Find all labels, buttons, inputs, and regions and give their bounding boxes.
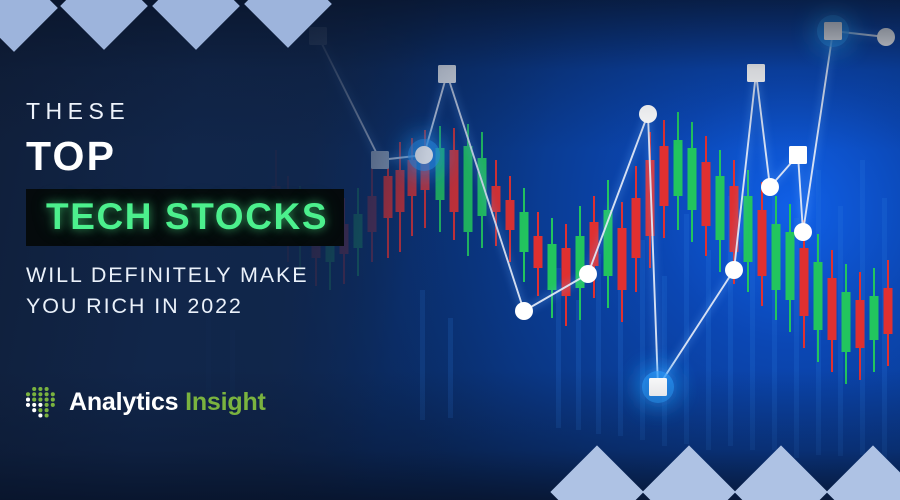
logo-dot — [45, 408, 49, 412]
logo-dot — [45, 392, 49, 396]
logo-dot — [45, 387, 49, 391]
logo-dot — [26, 398, 30, 402]
poster-canvas: THESE TOP TECH STOCKS WILL DEFINITELY MA… — [0, 0, 900, 500]
analytics-insight-dot-matrix-icon — [24, 385, 58, 419]
headline-word-top: TOP — [26, 136, 446, 177]
logo-dot — [38, 392, 42, 396]
logo-dot — [45, 413, 49, 417]
headline-highlight-text: TECH STOCKS — [46, 198, 328, 235]
logo-dot — [32, 387, 36, 391]
brand-name-secondary: Insight — [185, 388, 266, 416]
logo-dot — [38, 408, 42, 412]
logo-dot — [26, 392, 30, 396]
logo-dot — [32, 398, 36, 402]
logo-dot — [51, 403, 55, 407]
logo-dot — [38, 413, 42, 417]
logo-dot — [45, 403, 49, 407]
logo-dot — [38, 387, 42, 391]
headline-highlight-band: TECH STOCKS — [26, 189, 344, 246]
logo-dot — [51, 392, 55, 396]
logo-dot — [45, 398, 49, 402]
logo-dot — [38, 398, 42, 402]
headline-subline-2: YOU RICH IN 2022 — [26, 291, 446, 322]
logo-dot — [26, 403, 30, 407]
logo-dot — [38, 403, 42, 407]
brand-wordmark: Analytics Insight — [69, 390, 266, 415]
headline-eyebrow: THESE — [26, 100, 446, 123]
logo-dot — [32, 408, 36, 412]
headline-block: THESE TOP TECH STOCKS WILL DEFINITELY MA… — [26, 100, 446, 321]
headline-subline-1: WILL DEFINITELY MAKE — [26, 260, 446, 291]
logo-dot — [51, 398, 55, 402]
logo-dot — [32, 392, 36, 396]
logo-dot — [32, 403, 36, 407]
brand-name-primary: Analytics — [69, 388, 178, 416]
brand-logo: Analytics Insight — [24, 385, 266, 419]
